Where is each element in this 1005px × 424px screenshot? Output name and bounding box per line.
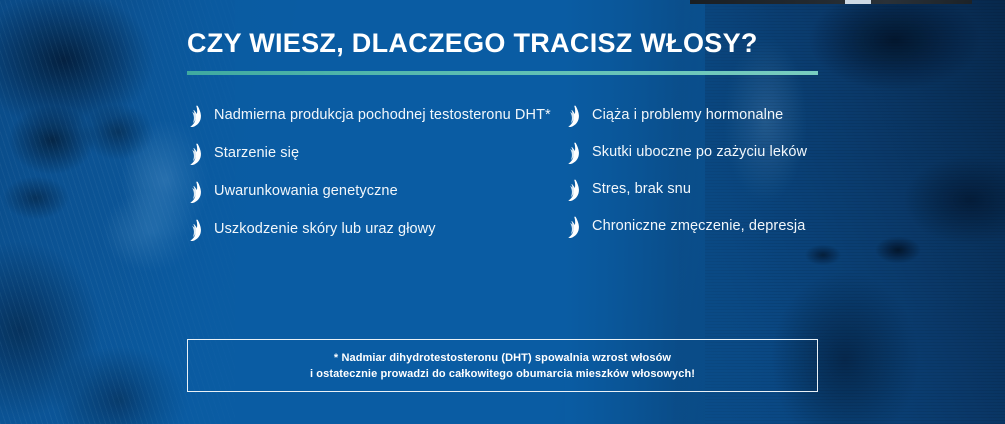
- list-item-label: Ciąża i problemy hormonalne: [592, 104, 783, 127]
- list-item-label: Uwarunkowania genetyczne: [214, 180, 398, 203]
- page-title: CZY WIESZ, DLACZEGO TRACISZ WŁOSY?: [187, 26, 758, 60]
- flame-icon: [187, 143, 203, 165]
- causes-column-left: Nadmierna produkcja pochodnej testostero…: [187, 104, 565, 256]
- causes-column-right: Ciąża i problemy hormonalne Skutki ubocz…: [565, 104, 827, 256]
- list-item-label: Uszkodzenie skóry lub uraz głowy: [214, 218, 436, 241]
- list-item-label: Stres, brak snu: [592, 178, 691, 201]
- top-edge-artifact-highlight: [845, 0, 871, 4]
- flame-icon: [187, 181, 203, 203]
- list-item: Uszkodzenie skóry lub uraz głowy: [187, 218, 565, 241]
- list-item: Ciąża i problemy hormonalne: [565, 104, 827, 127]
- list-item-label: Starzenie się: [214, 142, 299, 165]
- list-item: Chroniczne zmęczenie, depresja: [565, 215, 827, 238]
- list-item: Starzenie się: [187, 142, 565, 165]
- list-item-label: Skutki uboczne po zażyciu leków: [592, 141, 807, 164]
- footnote-line-2: i ostatecznie prowadzi do całkowitego ob…: [310, 366, 695, 382]
- list-item: Skutki uboczne po zażyciu leków: [565, 141, 827, 164]
- flame-icon: [565, 179, 581, 201]
- footnote-box: * Nadmiar dihydrotestosteronu (DHT) spow…: [187, 339, 818, 392]
- section-content: CZY WIESZ, DLACZEGO TRACISZ WŁOSY? Nadmi…: [187, 0, 827, 424]
- list-item: Nadmierna produkcja pochodnej testostero…: [187, 104, 565, 127]
- flame-icon: [565, 105, 581, 127]
- list-item: Uwarunkowania genetyczne: [187, 180, 565, 203]
- list-item-label: Nadmierna produkcja pochodnej testostero…: [214, 104, 551, 127]
- flame-icon: [187, 219, 203, 241]
- causes-columns: Nadmierna produkcja pochodnej testostero…: [187, 104, 827, 256]
- list-item-label: Chroniczne zmęczenie, depresja: [592, 215, 805, 238]
- list-item: Stres, brak snu: [565, 178, 827, 201]
- title-underline-divider: [187, 71, 818, 75]
- flame-icon: [565, 142, 581, 164]
- footnote-line-1: * Nadmiar dihydrotestosteronu (DHT) spow…: [334, 350, 671, 366]
- flame-icon: [187, 105, 203, 127]
- hair-loss-causes-section: CZY WIESZ, DLACZEGO TRACISZ WŁOSY? Nadmi…: [0, 0, 1005, 424]
- flame-icon: [565, 216, 581, 238]
